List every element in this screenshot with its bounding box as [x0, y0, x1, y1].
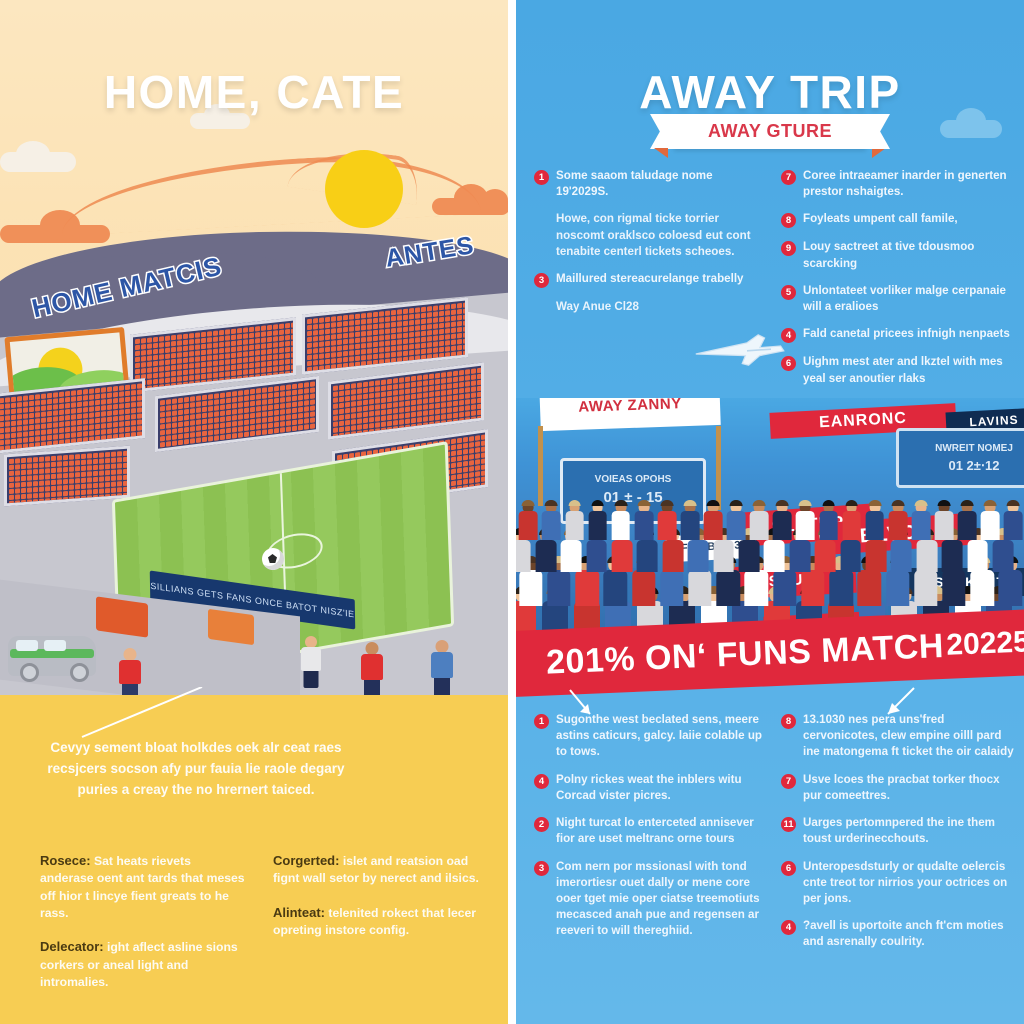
note-label: Alinteat: — [273, 905, 325, 920]
bullet-text: Uarges pertomnpered the ine them toust u… — [803, 815, 1014, 847]
note-label: Rosece: — [40, 853, 91, 868]
note-label: Corgerted: — [273, 853, 339, 868]
bullet-text: Coree intraeamer inarder in generten pre… — [803, 168, 1014, 200]
fan-flag-banner: AWAY ZANNY — [539, 398, 720, 431]
page-title-away: AWAY TRIP — [516, 65, 1024, 119]
fan-figure — [360, 642, 384, 698]
right-panel-away: AWAY TRIP AWAY GTURE 1 Some saaom taluda… — [516, 0, 1024, 1024]
cloud-icon — [940, 120, 1002, 138]
bullet-text: Fald canetal pricees infnigh nenpaets — [803, 326, 1010, 343]
bullet-number: 7 — [781, 170, 796, 185]
note-item: Rosece: Sat heats rievets anderase oent … — [40, 852, 247, 922]
bullet-item: 8 Foyleats umpent call famile, — [781, 211, 1014, 228]
bullet-item: 9 Louy sactreet at tive tdousmoo scarcki… — [781, 239, 1014, 271]
bullet-number: 6 — [781, 356, 796, 371]
van-window — [44, 640, 66, 651]
flag-pole — [716, 426, 721, 510]
bullet-text: Usve lcoes the pracbat torker thocx pur … — [803, 772, 1014, 804]
bullet-text: Louy sactreet at tive tdousmoo scarcking — [803, 239, 1014, 271]
away-culture-ribbon: AWAY GTURE — [674, 114, 866, 149]
left-lead-paragraph: Cevyy sement bloat holkdes oek alr ceat … — [46, 738, 346, 801]
away-bullets-bottom: 1 Sugonthe west beclated sens, meere ast… — [534, 712, 1014, 962]
note-item: Corgerted: islet and reatsion oad fignt … — [273, 852, 480, 888]
bullet-text: Com nern por mssionasl with tond imerort… — [556, 859, 767, 940]
bullet-number: 3 — [534, 273, 549, 288]
bullet-text: Way Anue Cl28 — [534, 299, 767, 315]
bullet-text: Some saaom taludage nome 19'2029S. — [556, 168, 767, 200]
bullet-number: 4 — [534, 774, 549, 789]
left-notes-column-1: Rosece: Sat heats rievets anderase oent … — [40, 852, 247, 1008]
bullet-number: 1 — [534, 170, 549, 185]
page-title-home: HOME, CATE — [0, 65, 508, 119]
bullet-number: 9 — [781, 241, 796, 256]
bullet-number: 2 — [534, 817, 549, 832]
bullet-item: 6 Uighm mest ater and lkztel with mes ye… — [781, 354, 1014, 386]
bullet-item: 11 Uarges pertomnpered the ine them tous… — [781, 815, 1014, 847]
flag-pole — [538, 426, 543, 506]
bullet-item: 3 Maillured stereacurelange trabelly — [534, 271, 767, 288]
bullet-text: Howe, con rigmal ticke torrier noscomt o… — [534, 211, 767, 260]
bullet-item: 5 Unlontateet vorliker malge cerpanaie w… — [781, 283, 1014, 315]
promo-banner-text: 201% ON‘ FUNS MATCH — [545, 626, 944, 682]
cloud-icon — [0, 152, 76, 172]
fan-figure — [300, 636, 322, 688]
stadium-scoreboard: NWREIT NOMEJ 01 2±⋅12 — [896, 428, 1024, 488]
bullet-text: 13.1030 nes pera uns'fred cervonicotes, … — [803, 712, 1014, 761]
bullet-text: ?avell is uportoite anch ft'cm moties an… — [803, 918, 1014, 950]
bullet-item: 1 Sugonthe west beclated sens, meere ast… — [534, 712, 767, 761]
bullet-number: 8 — [781, 714, 796, 729]
note-item: Delecator: ight aflect asline sions cork… — [40, 938, 247, 991]
bullet-number: 4 — [781, 328, 796, 343]
bullet-text: Night turcat lo enterceted annisever fio… — [556, 815, 767, 847]
bullet-item: 7 Usve lcoes the pracbat torker thocx pu… — [781, 772, 1014, 804]
orange-cloud-icon — [0, 225, 110, 243]
bullet-number: 5 — [781, 285, 796, 300]
bullet-item: 1 Some saaom taludage nome 19'2029S. — [534, 168, 767, 200]
bullet-text: Sugonthe west beclated sens, meere astin… — [556, 712, 767, 761]
team-van-icon — [8, 636, 96, 676]
bullet-number: 6 — [781, 861, 796, 876]
bullet-text: Polny rickes weat the inblers witu Corca… — [556, 772, 767, 804]
note-item: Alinteat: telenited rokect that lecer op… — [273, 904, 480, 940]
away-bullets-bottom-right-column: 8 13.1030 nes pera uns'fred cervonicotes… — [781, 712, 1014, 962]
bullet-number: 4 — [781, 920, 796, 935]
orange-cloud-icon — [432, 198, 508, 215]
bullet-item: 7 Coree intraeamer inarder in generten p… — [781, 168, 1014, 200]
left-notes-column-2: Corgerted: islet and reatsion oad fignt … — [273, 852, 480, 1008]
bullet-item: 8 13.1030 nes pera uns'fred cervonicotes… — [781, 712, 1014, 761]
bullet-text: Uighm mest ater and lkztel with mes yeal… — [803, 354, 1014, 386]
ribbon-tail-right — [872, 148, 886, 158]
infographic-poster: HOME, CATE HOME MATCIS ANTES AWEST — [0, 0, 1024, 1024]
bullet-item: 3 Com nern por mssionasl with tond imero… — [534, 859, 767, 940]
bullet-number: 7 — [781, 774, 796, 789]
away-bullets-bottom-left-column: 1 Sugonthe west beclated sens, meere ast… — [534, 712, 767, 962]
panel-divider — [508, 0, 516, 1024]
scoreboard-title: NWREIT NOMEJ — [935, 441, 1013, 456]
bullet-text: Unlontateet vorliker malge cerpanaie wil… — [803, 283, 1014, 315]
bullet-item: 4 Fald canetal pricees infnigh nenpaets — [781, 326, 1014, 343]
left-notes-columns: Rosece: Sat heats rievets anderase oent … — [40, 852, 480, 1008]
ribbon-tail-left — [654, 148, 668, 158]
sign-line-1: VOIEAS OPOHS — [595, 472, 672, 487]
fan-figure — [430, 640, 454, 698]
stadium-stand — [4, 446, 130, 507]
scoreboard-score: 01 2±⋅12 — [948, 456, 999, 476]
bullet-text: Maillured stereacurelange trabelly — [556, 271, 744, 288]
promo-banner-year: 20225 — [946, 625, 1024, 662]
bullet-item: 4 Polny rickes weat the inblers witu Cor… — [534, 772, 767, 804]
van-wheel — [70, 663, 89, 682]
bullet-item: 6 Unteropesdsturly or qudalte oelercis c… — [781, 859, 1014, 908]
bullet-number: 8 — [781, 213, 796, 228]
bullet-item: 2 Night turcat lo enterceted annisever f… — [534, 815, 767, 847]
van-wheel — [20, 663, 39, 682]
food-kiosk — [96, 596, 148, 637]
note-label: Delecator: — [40, 939, 104, 954]
bullet-text: Foyleats umpent call famile, — [803, 211, 958, 228]
ribbon-label: AWAY GTURE — [708, 121, 832, 141]
bullet-text: Unteropesdsturly or qudalte oelercis cnt… — [803, 859, 1014, 908]
bullet-number: 1 — [534, 714, 549, 729]
bullet-number: 3 — [534, 861, 549, 876]
van-window — [16, 640, 38, 651]
football-icon — [262, 548, 284, 570]
bullet-item: 4 ?avell is uportoite anch ft'cm moties … — [781, 918, 1014, 950]
sun-icon — [325, 150, 403, 228]
bullet-number: 11 — [781, 817, 796, 832]
food-kiosk — [208, 609, 254, 645]
left-panel-home: HOME, CATE HOME MATCIS ANTES AWEST — [0, 0, 508, 1024]
